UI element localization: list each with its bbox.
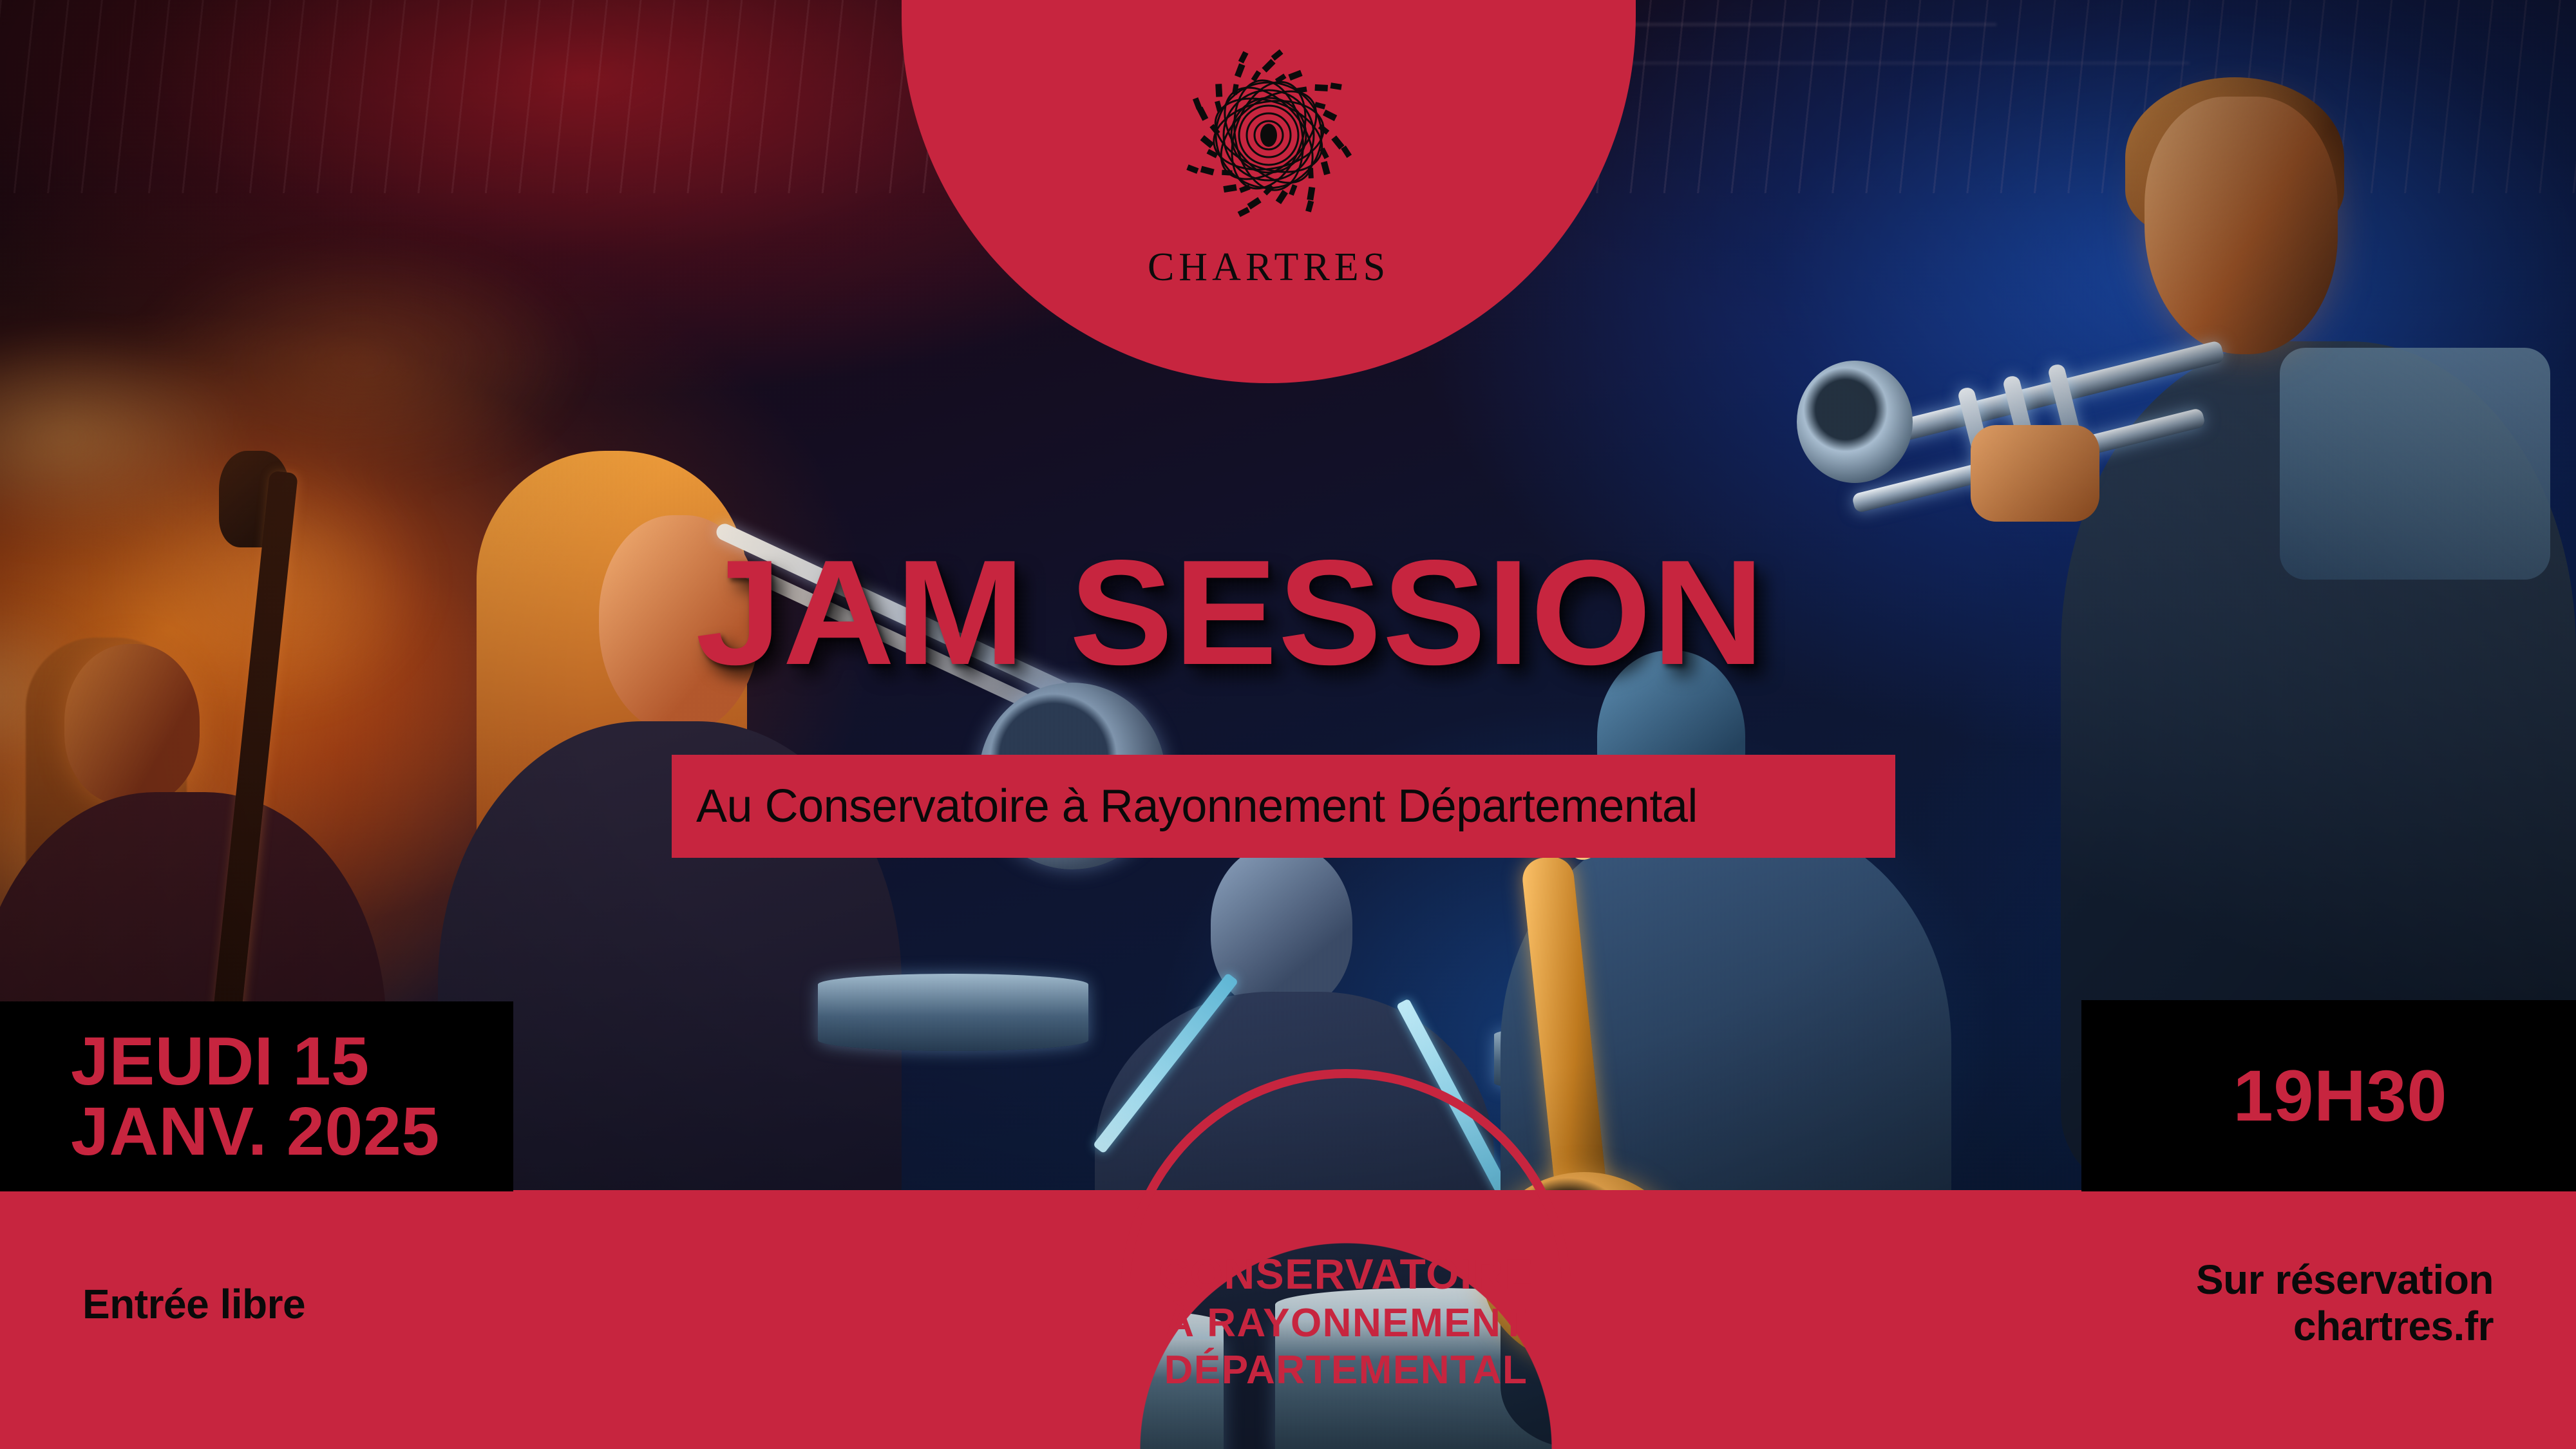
entry-price-label: Entrée libre <box>82 1280 305 1328</box>
event-poster: CHARTRES JAM SESSION Au Conservatoire à … <box>0 0 2576 1449</box>
event-date-line1: JEUDI 15 <box>71 1027 513 1096</box>
booking-info: Sur réservation chartres.fr <box>2196 1257 2494 1349</box>
event-time-block: 19H30 <box>2081 1000 2576 1191</box>
booking-label: Sur réservation <box>2196 1257 2494 1303</box>
chartres-labyrinth-icon <box>1172 39 1365 232</box>
city-name-label: CHARTRES <box>902 245 1636 290</box>
page-title: JAM SESSION <box>696 540 1765 686</box>
event-date-block: JEUDI 15 JANV. 2025 <box>0 1001 513 1191</box>
venue-label: Au Conservatoire à Rayonnement Départeme… <box>696 780 1698 833</box>
venue-banner: Au Conservatoire à Rayonnement Départeme… <box>672 755 1895 858</box>
footer-bar <box>0 1190 2576 1449</box>
event-time-label: 19H30 <box>2233 1054 2447 1137</box>
booking-website[interactable]: chartres.fr <box>2196 1303 2494 1350</box>
event-date-line2: JANV. 2025 <box>71 1097 513 1166</box>
